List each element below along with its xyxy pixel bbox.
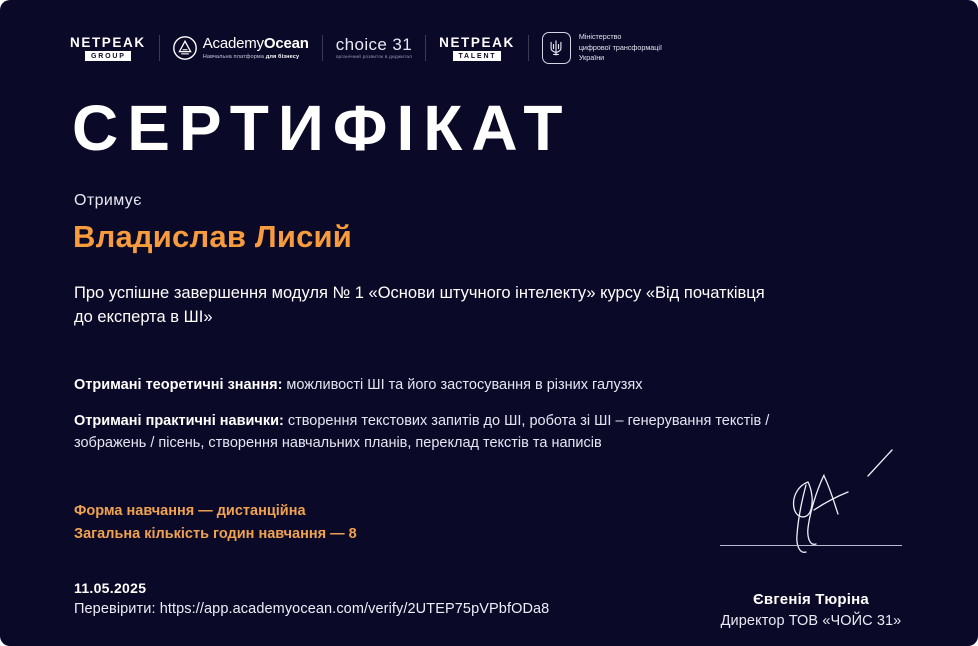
- netpeak-group-sublabel: GROUP: [85, 51, 131, 61]
- ukraine-trident-icon: [542, 32, 571, 64]
- awardee-name: Владислав Лисий: [73, 219, 352, 255]
- signature-rule: [720, 545, 902, 546]
- theoretical-knowledge-text: можливості ШІ та його застосування в різ…: [282, 377, 642, 393]
- academyocean-text: AcademyOcean Навчальна платформа для біз…: [203, 36, 309, 59]
- practical-skills-label: Отримані практичні навички:: [74, 413, 284, 429]
- course-description: Про успішне завершення модуля № 1 «Основ…: [74, 281, 774, 330]
- signature-area: Євгенія Тюріна Директор ТОВ «ЧОЙС 31»: [696, 440, 926, 629]
- theoretical-knowledge-label: Отримані теоретичні знання:: [74, 377, 282, 393]
- choice31-wordmark: choice 31: [336, 36, 412, 53]
- ministry-text: Міністерство цифрової трансформації Укра…: [579, 32, 662, 63]
- course-highlights: Форма навчання — дистанційна Загальна кі…: [74, 500, 357, 546]
- choice31-logo: choice 31 органічний розвиток в диджитал: [336, 36, 412, 61]
- netpeak-talent-logo: NETPEAK TALENT: [439, 36, 515, 61]
- ministry-logo: Міністерство цифрової трансформації Укра…: [542, 32, 662, 64]
- academyocean-tagline: Навчальна платформа для бізнесу: [203, 54, 309, 60]
- awardee-label: Отримує: [74, 192, 142, 210]
- signer-name: Євгенія Тюріна: [696, 591, 926, 608]
- handwritten-signature-icon: [696, 440, 926, 560]
- netpeak-group-wordmark: NETPEAK: [70, 36, 146, 50]
- academyocean-wordmark: AcademyOcean: [203, 36, 309, 52]
- certificate-title: СЕРТИФІКАТ: [72, 96, 571, 160]
- academyocean-triangle-icon: [173, 36, 197, 60]
- ministry-line-1: Міністерство: [579, 32, 622, 41]
- ministry-line-3: України: [579, 53, 604, 62]
- verify-url[interactable]: Перевірити: https://app.academyocean.com…: [74, 601, 549, 617]
- study-format: Форма навчання — дистанційна: [74, 500, 357, 523]
- logo-divider: [425, 35, 426, 61]
- academyocean-logo: AcademyOcean Навчальна платформа для біз…: [173, 36, 309, 60]
- logo-divider: [159, 35, 160, 61]
- choice31-tagline: органічний розвиток в диджитал: [336, 55, 412, 60]
- logo-divider: [322, 35, 323, 61]
- issue-date: 11.05.2025: [74, 580, 146, 596]
- partner-logo-bar: NETPEAK GROUP AcademyOcean Навчальна пла…: [70, 28, 662, 68]
- logo-divider: [528, 35, 529, 61]
- theoretical-knowledge-block: Отримані теоретичні знання: можливості Ш…: [74, 374, 814, 396]
- signer-title: Директор ТОВ «ЧОЙС 31»: [696, 613, 926, 629]
- certificate-card: NETPEAK GROUP AcademyOcean Навчальна пла…: [0, 0, 978, 646]
- netpeak-talent-wordmark: NETPEAK: [439, 36, 515, 50]
- netpeak-group-logo: NETPEAK GROUP: [70, 36, 146, 61]
- netpeak-talent-sublabel: TALENT: [453, 51, 502, 61]
- study-hours: Загальна кількість годин навчання — 8: [74, 523, 357, 546]
- ministry-line-2: цифрової трансформації: [579, 43, 662, 52]
